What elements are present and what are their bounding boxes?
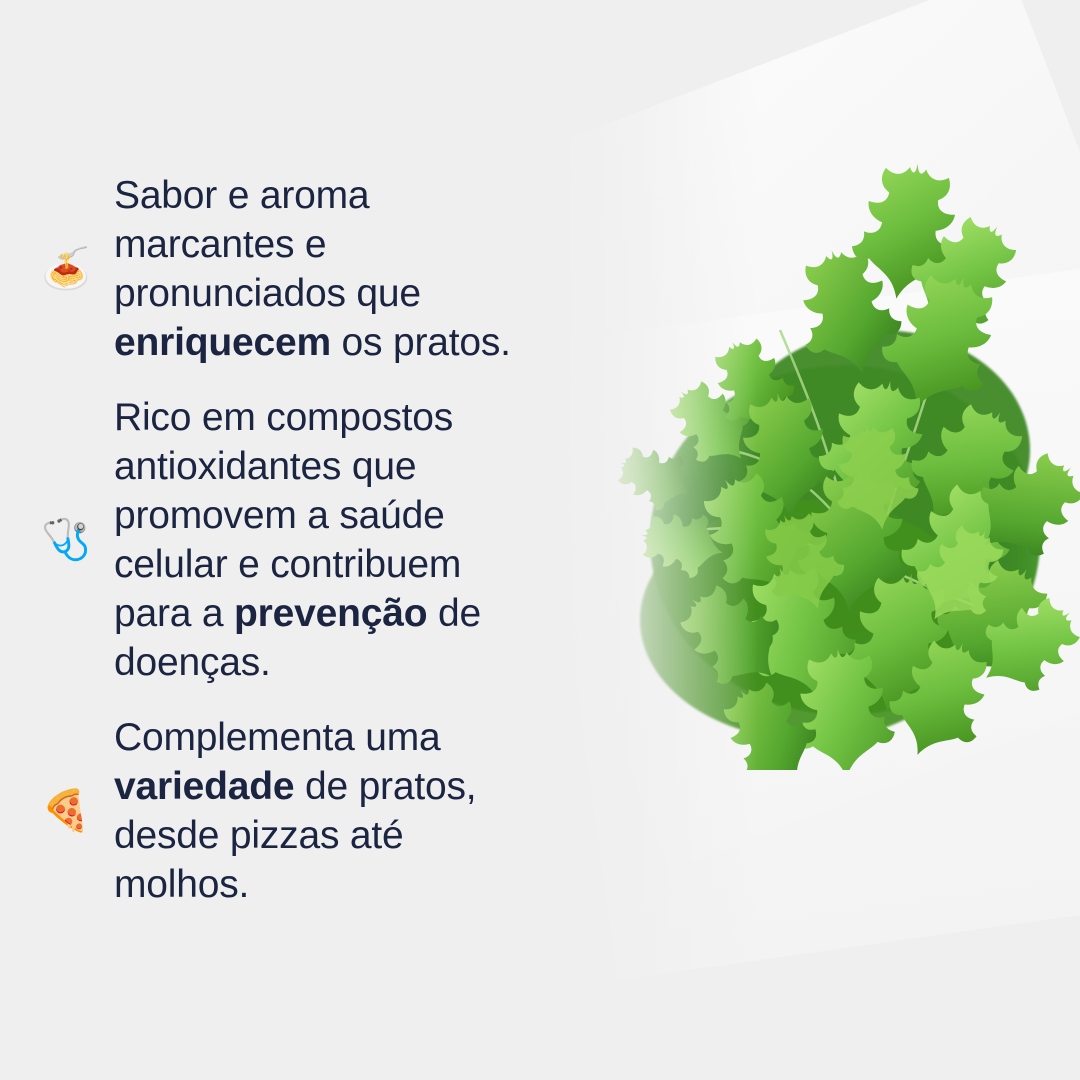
- poster-canvas: 🍝 Sabor e aroma marcantes e pronunciados…: [0, 0, 1080, 1080]
- list-item: 🍕 Complementa uma variedade de pratos, d…: [40, 713, 620, 909]
- benefit-text-part: Complementa uma: [114, 716, 440, 759]
- benefit-text-part: os pratos.: [331, 321, 511, 364]
- benefit-text-part: Sabor e aroma marcantes e pronunciados q…: [114, 174, 421, 315]
- photo-surface-card: [560, 0, 1080, 871]
- parsley-photo: [560, 0, 1080, 1080]
- list-item: 🍝 Sabor e aroma marcantes e pronunciados…: [40, 171, 620, 367]
- stethoscope-icon: 🩺: [40, 514, 92, 566]
- spaghetti-icon: 🍝: [40, 243, 92, 295]
- list-item: 🩺 Rico em compostos antioxidantes que pr…: [40, 393, 620, 687]
- benefits-list: 🍝 Sabor e aroma marcantes e pronunciados…: [0, 0, 620, 1080]
- benefit-text-emphasis: prevenção: [234, 592, 427, 635]
- benefit-text-emphasis: enriquecem: [114, 321, 331, 364]
- benefit-text-2: Complementa uma variedade de pratos, des…: [114, 713, 534, 909]
- photo-edge-fade: [560, 0, 1080, 1080]
- pizza-icon: 🍕: [40, 785, 92, 837]
- benefit-text-emphasis: variedade: [114, 765, 294, 808]
- benefit-text-1: Rico em compostos antioxidantes que prom…: [114, 393, 534, 687]
- parsley-bunch-illustration: [580, 150, 1080, 770]
- photo-surface-card-secondary: [560, 260, 1080, 980]
- benefit-text-0: Sabor e aroma marcantes e pronunciados q…: [114, 171, 534, 367]
